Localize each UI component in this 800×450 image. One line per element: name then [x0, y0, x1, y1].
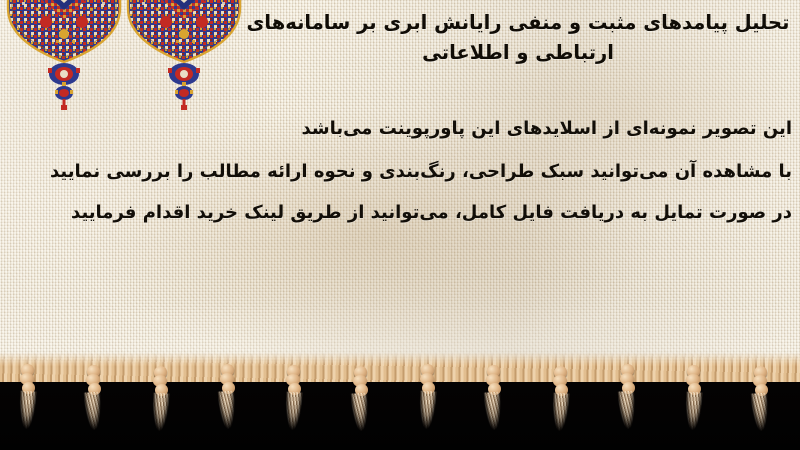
tassel-skirt: [750, 392, 771, 437]
tassel-skirt: [617, 390, 638, 435]
tassel-skirt: [551, 393, 571, 438]
tassel-skirt: [418, 391, 438, 436]
fringe-tassel: [685, 365, 703, 437]
tassel-skirt: [18, 391, 38, 436]
presentation-slide: تحلیل پیامدهای مثبت و منفی رایانش ابری ب…: [0, 0, 800, 450]
tassel-skirt: [350, 392, 371, 437]
body-line-purchase-link: در صورت تمایل به دریافت فایل کامل، می‌تو…: [40, 192, 792, 233]
carpet-fringe-band: [0, 352, 800, 382]
fringe-tassel: [19, 364, 37, 436]
fringe-tassel: [285, 365, 303, 437]
fringe-tassel: [85, 365, 103, 437]
tassel-skirt: [83, 391, 104, 436]
slide-title: تحلیل پیامدهای مثبت و منفی رایانش ابری ب…: [240, 8, 796, 68]
tassel-skirt: [483, 391, 504, 436]
persian-medallion-ornament-left: [6, 0, 122, 122]
fringe-tassel: [485, 365, 503, 437]
slide-body-text: این تصویر نمونه‌ای از اسلایدهای این پاور…: [40, 108, 792, 233]
slide-title-line-2: ارتباطی و اطلاعاتی: [240, 38, 796, 68]
slide-title-line-1: تحلیل پیامدهای مثبت و منفی رایانش ابری ب…: [240, 8, 796, 38]
body-line-design-review: با مشاهده آن می‌توانید سبک طراحی، رنگ‌بن…: [40, 151, 792, 192]
fringe-tassel: [419, 364, 437, 436]
body-line-sample-notice: این تصویر نمونه‌ای از اسلایدهای این پاور…: [40, 108, 792, 151]
fringe-tassel: [752, 366, 770, 438]
tassel-skirt: [151, 393, 171, 438]
fringe-tassel: [352, 366, 370, 438]
tassel-skirt: [684, 392, 704, 437]
fringe-tassel: [152, 366, 170, 438]
fringe-tassel: [619, 364, 637, 436]
persian-medallion-ornament-right: [126, 0, 242, 122]
tassel-skirt: [217, 390, 238, 435]
fringe-tassel: [552, 366, 570, 438]
fringe-tassel: [219, 364, 237, 436]
tassel-skirt: [284, 392, 304, 437]
